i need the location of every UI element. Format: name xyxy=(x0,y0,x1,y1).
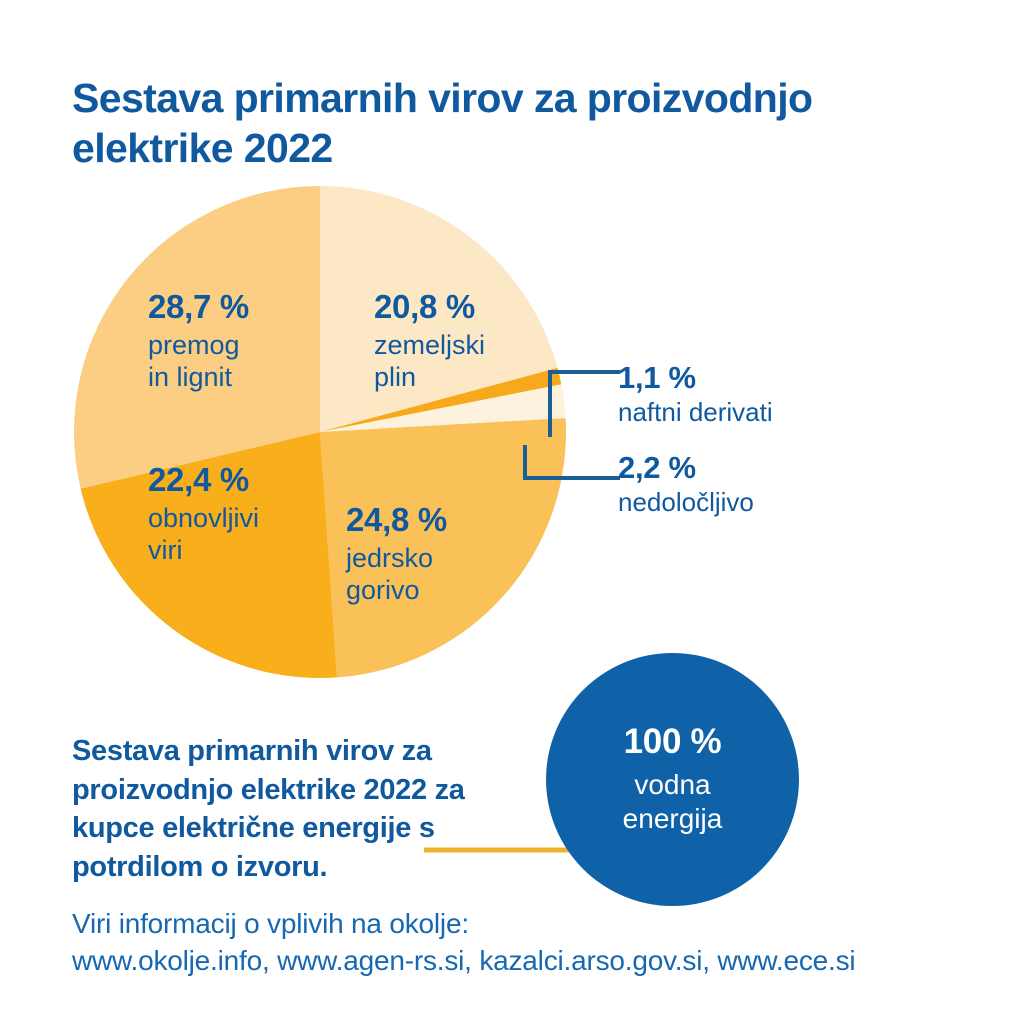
callout-naftni-derivati: 1,1 % naftni derivati xyxy=(618,362,773,425)
pie-label-jedrsko-name: jedrskogorivo xyxy=(346,543,447,606)
sources-list: www.okolje.info, www.agen-rs.si, kazalci… xyxy=(72,942,992,979)
callout-naftni-name: naftni derivati xyxy=(618,399,773,425)
pie-label-plin-percent: 20,8 % xyxy=(374,290,485,323)
callout-nedolocljivo-name: nedoločljivo xyxy=(618,489,754,515)
page-title: Sestava primarnih virov za proizvodnjo e… xyxy=(72,73,972,173)
hydro-badge-percent: 100 % xyxy=(624,724,722,759)
hydro-badge-name: vodnaenergija xyxy=(623,768,723,835)
pie-label-obnovljivi-viri: 22,4 % obnovljiviviri xyxy=(148,463,259,566)
callout-nedolocljivo-percent: 2,2 % xyxy=(618,452,754,483)
hydro-energy-badge: 100 % vodnaenergija xyxy=(546,653,799,906)
callout-nedolocljivo: 2,2 % nedoločljivo xyxy=(618,452,754,515)
sources-heading: Viri informacij o vplivih na okolje: xyxy=(72,905,992,942)
leader-line-nedolocljivo xyxy=(525,445,620,478)
pie-label-jedrsko-gorivo: 24,8 % jedrskogorivo xyxy=(346,503,447,606)
pie-slice-group xyxy=(74,186,566,678)
infographic-page: Sestava primarnih virov za proizvodnjo e… xyxy=(0,0,1024,1024)
pie-label-jedrsko-percent: 24,8 % xyxy=(346,503,447,536)
pie-label-premog-name: premogin lignit xyxy=(148,330,249,393)
sources-footer: Viri informacij o vplivih na okolje: www… xyxy=(72,905,992,979)
pie-label-premog-percent: 28,7 % xyxy=(148,290,249,323)
pie-label-obnovljivi-percent: 22,4 % xyxy=(148,463,259,496)
pie-label-obnovljivi-name: obnovljiviviri xyxy=(148,503,259,566)
pie-label-premog-in-lignit: 28,7 % premogin lignit xyxy=(148,290,249,393)
pie-label-plin-name: zemeljskiplin xyxy=(374,330,485,393)
leader-line-naftni-derivati xyxy=(550,372,620,437)
callout-naftni-percent: 1,1 % xyxy=(618,362,773,393)
pie-label-zemeljski-plin: 20,8 % zemeljskiplin xyxy=(374,290,485,393)
